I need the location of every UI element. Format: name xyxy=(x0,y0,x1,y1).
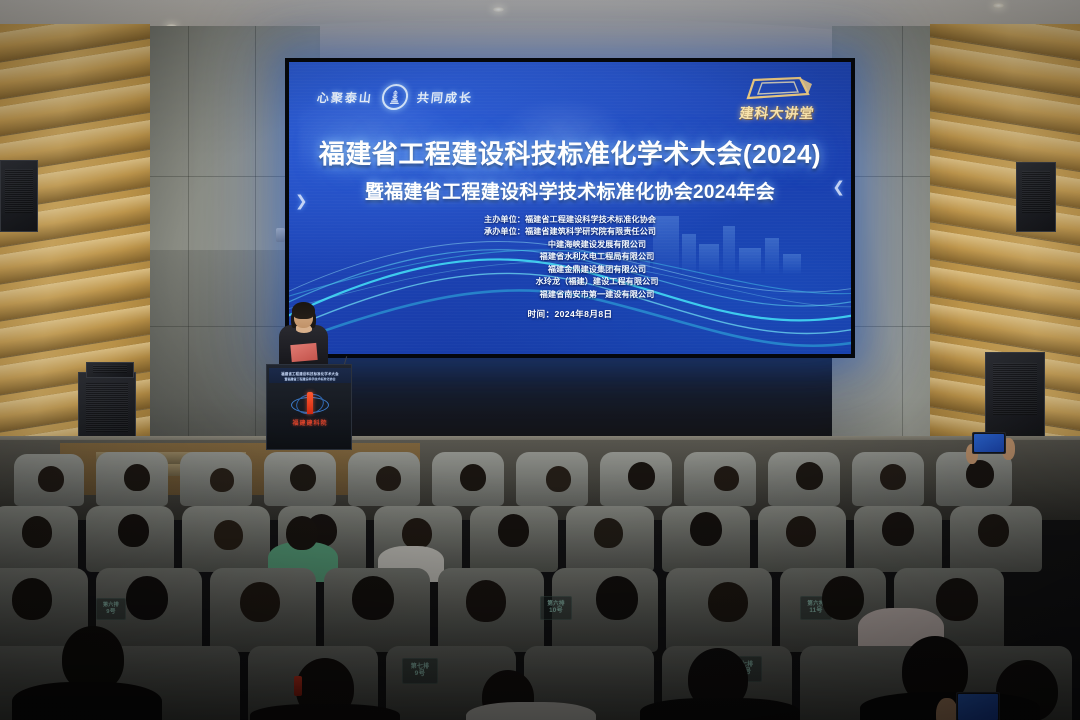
audience-head xyxy=(210,468,234,492)
seat-number-plate: 第七排 9号 xyxy=(402,658,438,684)
phone-screen xyxy=(974,434,1004,452)
audience-head xyxy=(708,582,748,622)
speaker-hair xyxy=(292,302,315,319)
organizer-line: 福建省南安市第一建设有限公司 xyxy=(486,289,655,301)
audience-head xyxy=(880,464,906,490)
audience-head xyxy=(402,518,432,549)
seat-number-label: 9号 xyxy=(106,609,115,615)
audience-head xyxy=(124,464,150,491)
audience-head xyxy=(498,514,529,547)
podium-banner-line1: 福建省工程建设科技标准化学术大会 xyxy=(281,371,338,376)
audience-shoulders xyxy=(250,704,400,720)
audience-head xyxy=(546,466,571,492)
slide-title-main: 福建省工程建设科技标准化学术大会(2024) xyxy=(289,134,851,171)
audience-head xyxy=(118,514,149,547)
slide-brand-text: 建科大讲堂 xyxy=(726,103,829,123)
audience-shoulders xyxy=(466,702,596,720)
audience-head xyxy=(352,576,394,620)
speaker-papers xyxy=(290,343,317,362)
slide-organizer-list: 主办单位：福建省工程建设科学技术标准化协会 承办单位：福建省建筑科学研究院有限责… xyxy=(289,214,851,301)
audience-head xyxy=(286,516,318,550)
audience-head xyxy=(240,582,280,622)
wall-light-icon xyxy=(276,228,285,242)
slide-content: 心聚泰山 共同成长 xyxy=(289,62,851,354)
seat-number-plate: 第六排 9号 xyxy=(96,598,126,620)
slide-title-sub: 暨福建省工程建设科学技术标准化协会2024年会 xyxy=(289,177,851,204)
organizer-line: 承办单位：福建省建筑科学研究院有限责任公司 xyxy=(484,226,656,238)
audience-head xyxy=(628,462,655,490)
slide-slogan: 心聚泰山 共同成长 xyxy=(316,84,475,110)
organizer-line: 福建金鼎建设集团有限公司 xyxy=(494,264,646,276)
audience-shoulders xyxy=(12,682,162,720)
audience-head xyxy=(38,466,64,492)
audience-phone[interactable] xyxy=(956,692,1000,720)
podium-banner: 福建省工程建设科技标准化学术大会 暨福建省工程建设科学技术标准化协会 xyxy=(269,368,351,383)
audience-head xyxy=(12,578,52,620)
audience-area: 第六排 9号 第六排 10号 第六排 11号 第七排 xyxy=(0,410,1080,720)
organizer-line: 主办单位：福建省工程建设科学技术标准化协会 xyxy=(484,214,656,226)
slide-brand-logo: 建科大讲堂 xyxy=(727,76,827,123)
pagoda-circle-emblem-icon xyxy=(381,84,410,110)
downlight-icon xyxy=(493,7,504,12)
audience-head xyxy=(690,512,722,546)
audience-head xyxy=(822,576,864,620)
phone-screen xyxy=(958,694,998,720)
organizer-line: 福建省水利水电工程局有限公司 xyxy=(486,251,655,263)
loudspeaker-icon xyxy=(86,362,134,378)
audience-head xyxy=(22,516,52,548)
slogan-right-text: 共同成长 xyxy=(416,89,474,106)
audience-head xyxy=(460,464,486,491)
audience-head xyxy=(596,576,638,620)
podium-banner-line2: 暨福建省工程建设科学技术标准化协会 xyxy=(284,377,335,381)
led-presentation-screen: 心聚泰山 共同成长 xyxy=(285,58,855,358)
audience-head xyxy=(594,518,623,548)
organizer-line: 中建海峡建设发展有限公司 xyxy=(494,239,646,251)
slide-date: 时间：2024年8月8日 xyxy=(289,308,851,320)
audience-head xyxy=(214,520,243,550)
organizer-line: 水玲龙（福建）建设工程有限公司 xyxy=(482,276,659,288)
audience-head xyxy=(376,466,401,491)
conference-hall-photo: 心聚泰山 共同成长 xyxy=(0,0,1080,720)
seat-number-label: 10号 xyxy=(549,608,563,615)
seat-number-label: 11号 xyxy=(809,608,822,615)
audience-head xyxy=(466,580,506,622)
seat-number-label: 9号 xyxy=(415,671,426,678)
audience-head xyxy=(882,512,914,546)
slogan-left-text: 心聚泰山 xyxy=(316,89,374,106)
audience-head xyxy=(126,576,168,620)
loudspeaker-icon xyxy=(1016,162,1056,232)
audience-head xyxy=(796,462,823,490)
audience-head xyxy=(714,466,739,491)
downlight-icon xyxy=(993,3,1004,8)
audience-head xyxy=(936,578,978,621)
open-book-screen-icon xyxy=(738,76,816,102)
audience-head xyxy=(290,464,316,491)
audience-hand xyxy=(936,698,958,720)
red-object xyxy=(294,676,302,696)
seat-number-plate: 第六排 10号 xyxy=(540,596,572,620)
audience-head xyxy=(978,514,1009,547)
audience-phone[interactable] xyxy=(972,432,1006,454)
audience-shoulders xyxy=(640,698,800,720)
audience-head xyxy=(786,516,816,547)
audience-head xyxy=(966,460,994,488)
loudspeaker-icon xyxy=(0,160,38,232)
